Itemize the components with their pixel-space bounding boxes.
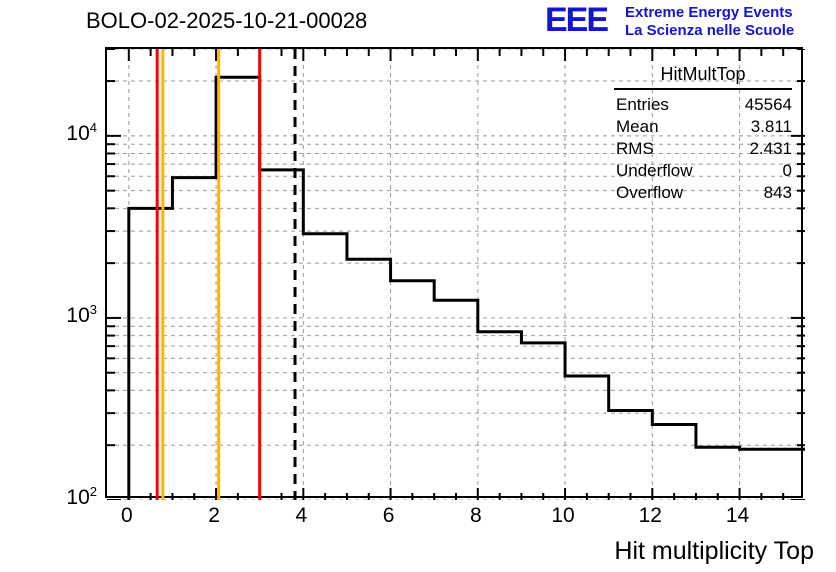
x-tick-label: 2 bbox=[184, 504, 244, 528]
stats-row: Mean3.811 bbox=[604, 115, 802, 138]
stats-row: Underflow0 bbox=[604, 159, 802, 182]
stats-value: 2.431 bbox=[749, 137, 792, 160]
stats-row: Entries45564 bbox=[604, 93, 802, 116]
stats-divider bbox=[614, 88, 792, 90]
plot-root: BOLO-02-2025-10-21-00028 EEE Extreme Ene… bbox=[0, 0, 836, 572]
stats-row: RMS2.431 bbox=[604, 137, 802, 160]
eee-logo-text: Extreme Energy Events La Scienza nelle S… bbox=[625, 4, 794, 40]
y-tick-label: 103 bbox=[66, 302, 97, 328]
stats-value: 843 bbox=[764, 181, 792, 204]
stats-value: 3.811 bbox=[751, 115, 792, 138]
stats-key: RMS bbox=[616, 137, 654, 160]
eee-logo: EEE Extreme Energy Events La Scienza nel… bbox=[545, 2, 831, 42]
y-tick-mantissa: 10 bbox=[66, 122, 89, 145]
page-title: BOLO-02-2025-10-21-00028 bbox=[86, 8, 367, 34]
stats-key: Mean bbox=[616, 115, 659, 138]
eee-logo-mark: EEE bbox=[545, 3, 607, 37]
stats-value: 45564 bbox=[745, 93, 792, 116]
x-tick-label: 14 bbox=[708, 504, 768, 528]
x-axis-title: Hit multiplicity Top bbox=[614, 537, 814, 566]
stats-title: HitMultTop bbox=[604, 64, 802, 87]
y-tick-label: 104 bbox=[66, 120, 97, 146]
stats-key: Overflow bbox=[616, 181, 683, 204]
stats-key: Entries bbox=[616, 93, 669, 116]
x-tick-label: 4 bbox=[271, 504, 331, 528]
y-tick-exponent: 3 bbox=[90, 302, 97, 317]
y-tick-mantissa: 10 bbox=[66, 304, 89, 327]
eee-logo-line1: Extreme Energy Events bbox=[625, 4, 794, 22]
stats-box: HitMultTop Entries45564Mean3.811RMS2.431… bbox=[604, 64, 802, 206]
x-tick-label: 8 bbox=[446, 504, 506, 528]
x-tick-label: 0 bbox=[97, 504, 157, 528]
y-tick-exponent: 4 bbox=[90, 120, 97, 135]
y-tick-mantissa: 10 bbox=[66, 486, 89, 509]
x-tick-label: 6 bbox=[359, 504, 419, 528]
stats-value: 0 bbox=[783, 159, 792, 182]
y-tick-label: 102 bbox=[66, 484, 97, 510]
stats-key: Underflow bbox=[616, 159, 693, 182]
x-tick-label: 10 bbox=[533, 504, 593, 528]
x-tick-label: 12 bbox=[620, 504, 680, 528]
eee-logo-line2: La Scienza nelle Scuole bbox=[625, 22, 794, 40]
stats-row: Overflow843 bbox=[604, 181, 802, 204]
y-tick-exponent: 2 bbox=[90, 484, 97, 499]
